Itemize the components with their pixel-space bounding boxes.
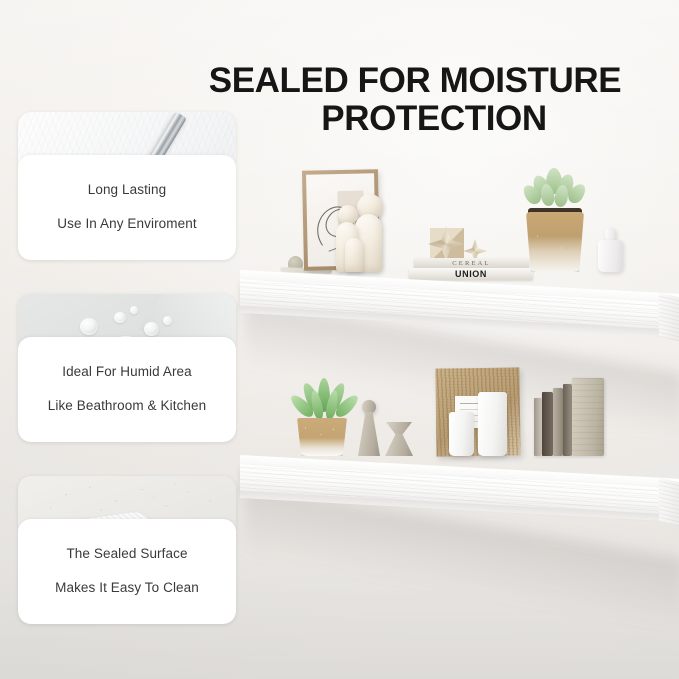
feature-card-caption: The Sealed Surface Makes It Easy To Clea… xyxy=(18,519,236,624)
caption-line-1: Long Lasting xyxy=(24,181,230,198)
water-droplet-icon xyxy=(163,316,172,325)
book-upright-5 xyxy=(572,378,604,456)
caption-line-2: Makes It Easy To Clean xyxy=(24,579,230,596)
caption-line-1: The Sealed Surface xyxy=(24,545,230,562)
white-vase-small xyxy=(449,412,474,456)
book-upright-4 xyxy=(563,384,572,456)
page-title: SEALED FOR MOISTURE PROTECTION xyxy=(160,24,670,175)
water-droplet-icon xyxy=(144,322,159,336)
feature-card-caption: Ideal For Humid Area Like Beathroom & Ki… xyxy=(18,337,236,442)
figurine-child xyxy=(345,238,363,272)
bottom-shelf-end-cap xyxy=(659,478,679,527)
caption-line-1: Ideal For Humid Area xyxy=(24,363,230,380)
top-shelf-board xyxy=(240,270,679,294)
white-vase-large xyxy=(478,392,507,456)
bottom-shelf-board xyxy=(240,455,679,479)
book-upright-3 xyxy=(553,388,563,456)
ceramic-bottle-body xyxy=(598,240,623,272)
book-upright-2 xyxy=(542,392,553,456)
feature-card-humid-area[interactable]: Ideal For Humid Area Like Beathroom & Ki… xyxy=(18,294,236,442)
top-shelf xyxy=(240,270,679,320)
bottom-shelf xyxy=(240,455,679,505)
product-feature-image: SEALED FOR MOISTURE PROTECTION xyxy=(0,0,679,679)
feature-card-list: Long Lasting Use In Any Enviroment xyxy=(18,112,236,624)
book-cereal-title: CEREAL xyxy=(452,260,490,267)
feature-card-easy-clean[interactable]: The Sealed Surface Makes It Easy To Clea… xyxy=(18,476,236,624)
caption-line-2: Use In Any Enviroment xyxy=(24,215,230,232)
headline-line-2: PROTECTION xyxy=(160,100,670,138)
wooden-figure-tall-head xyxy=(362,400,376,414)
headline-line-1: SEALED FOR MOISTURE xyxy=(209,61,621,100)
caption-line-2: Like Beathroom & Kitchen xyxy=(24,397,230,414)
book-upright-1 xyxy=(534,398,542,456)
succulent-planter-pot xyxy=(526,212,584,272)
green-plant-pot xyxy=(296,418,348,456)
water-droplet-icon xyxy=(80,318,98,335)
water-droplet-icon xyxy=(130,306,138,314)
water-droplet-icon xyxy=(114,312,126,323)
top-shelf-end-cap xyxy=(659,293,679,342)
